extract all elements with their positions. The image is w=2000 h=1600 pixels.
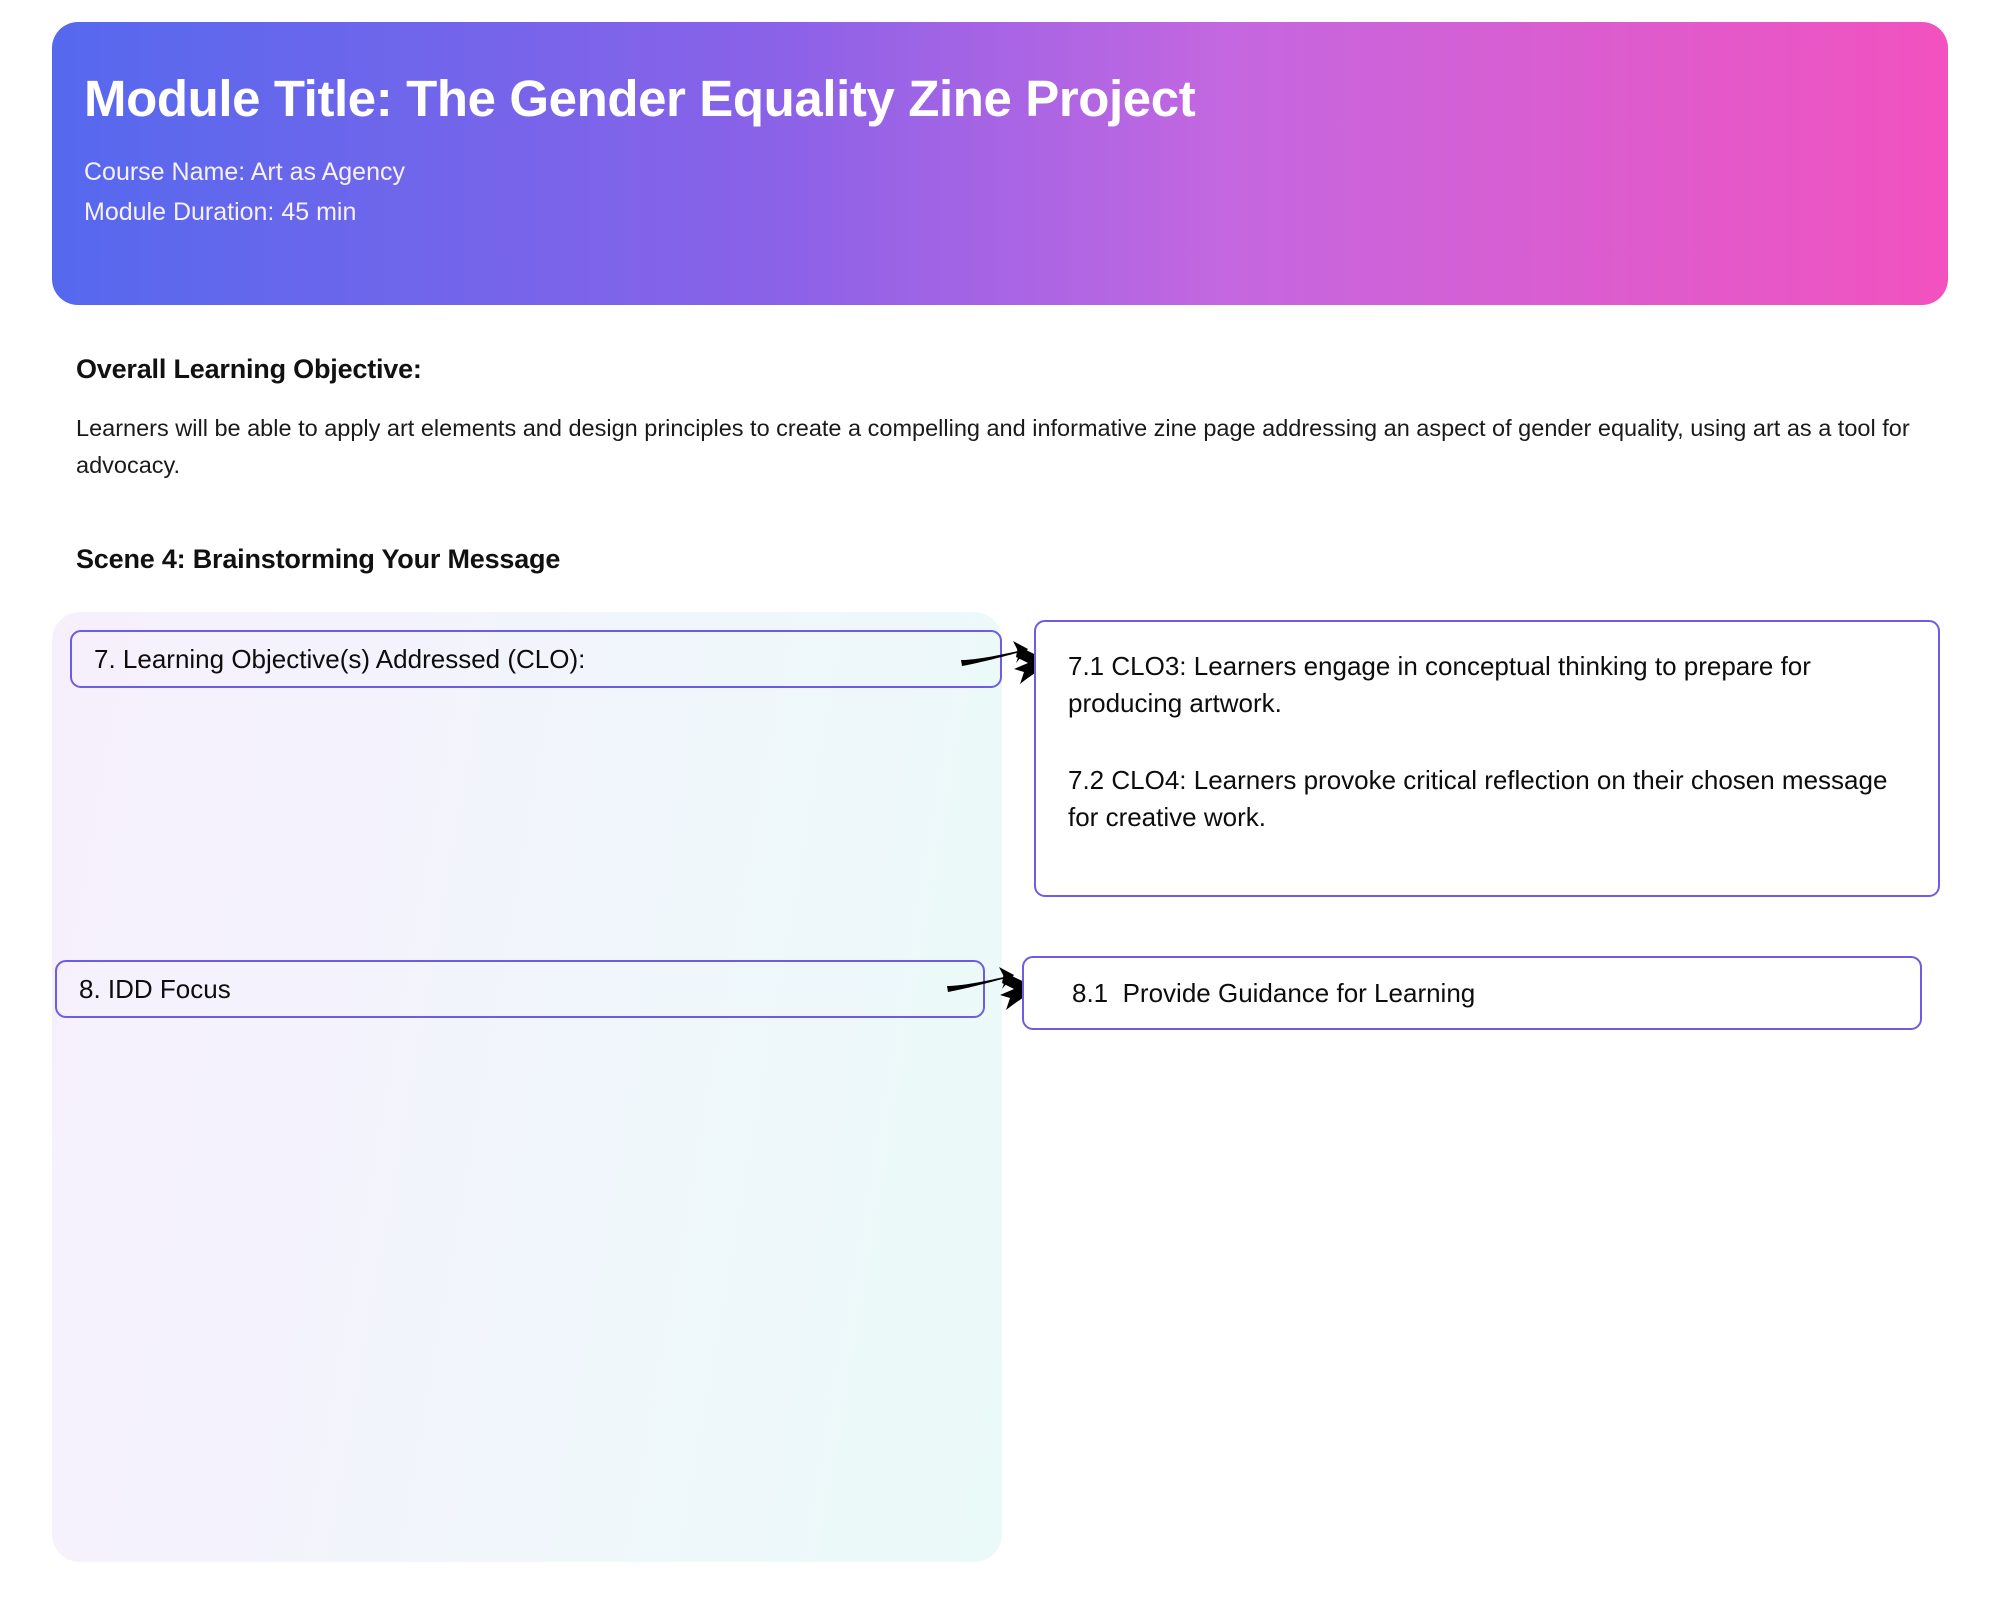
idd-detail-box[interactable]: 8.1 Provide Guidance for Learning <box>1022 956 1922 1030</box>
module-title: Module Title: The Gender Equality Zine P… <box>84 70 1948 127</box>
clo-item-1: 7.1 CLO3: Learners engage in conceptual … <box>1068 648 1912 722</box>
module-header-banner: Module Title: The Gender Equality Zine P… <box>52 22 1948 305</box>
clo-label-box[interactable]: 7. Learning Objective(s) Addressed (CLO)… <box>70 630 1002 688</box>
clo-detail-box[interactable]: 7.1 CLO3: Learners engage in conceptual … <box>1034 620 1940 897</box>
module-duration: Module Duration: 45 min <box>84 193 1948 233</box>
clo-label-text: 7. Learning Objective(s) Addressed (CLO)… <box>94 641 585 678</box>
scene-gradient-panel <box>52 612 1002 1562</box>
idd-item-1: 8.1 Provide Guidance for Learning <box>1072 975 1475 1012</box>
course-name: Course Name: Art as Agency <box>84 153 1948 193</box>
overall-learning-objective-heading: Overall Learning Objective: <box>76 354 422 385</box>
idd-label-text: 8. IDD Focus <box>79 971 231 1008</box>
overall-learning-objective-body: Learners will be able to apply art eleme… <box>76 410 1956 484</box>
idd-label-box[interactable]: 8. IDD Focus <box>55 960 985 1018</box>
scene-heading: Scene 4: Brainstorming Your Message <box>76 544 560 575</box>
clo-item-2: 7.2 CLO4: Learners provoke critical refl… <box>1068 762 1912 836</box>
